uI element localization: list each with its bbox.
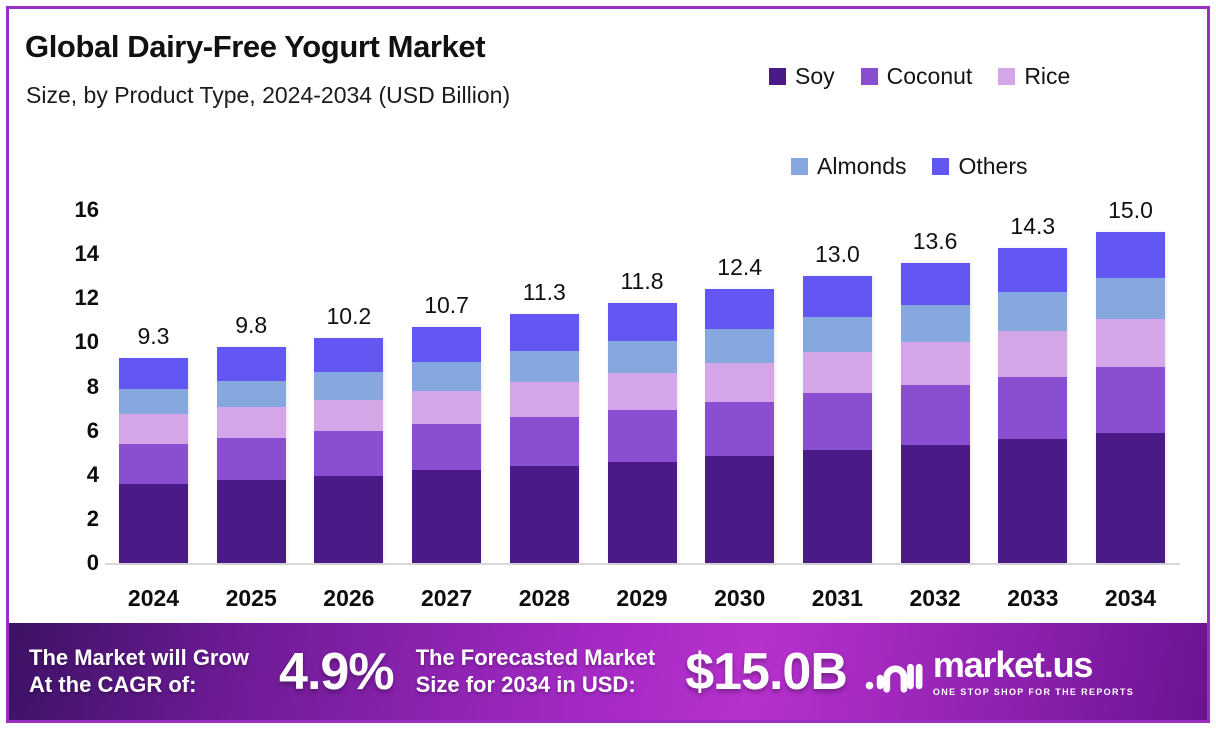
infographic-root: Global Dairy-Free Yogurt Market Size, by… [0,0,1216,729]
bar-value-label-2027: 10.7 [398,292,495,319]
y-axis-tick-12: 12 [75,285,99,311]
bar-segment-soy-2027 [412,470,481,563]
bar-group-2026[interactable]: 10.22026 [300,9,397,620]
forecast-value: $15.0B [685,642,847,702]
bar-segment-rice-2030 [705,363,774,402]
brand-tagline: ONE STOP SHOP FOR THE REPORTS [933,687,1134,697]
bar-segment-soy-2029 [608,462,677,563]
bar-segment-soy-2031 [803,450,872,563]
bar-segment-others-2029 [608,303,677,342]
brand-name: market.us [933,647,1134,683]
y-axis-tick-4: 4 [87,462,99,488]
x-axis-label-2032: 2032 [887,585,984,612]
x-axis-label-2029: 2029 [594,585,691,612]
bar-stack-2027[interactable] [412,327,481,563]
bar-segment-almonds-2032 [901,305,970,343]
bar-value-label-2025: 9.8 [203,312,300,339]
y-axis-tick-14: 14 [75,241,99,267]
bar-segment-others-2031 [803,276,872,317]
bar-stack-2028[interactable] [510,314,579,563]
bar-value-label-2033: 14.3 [984,213,1081,240]
bar-value-label-2028: 11.3 [496,279,593,306]
bar-segment-soy-2033 [998,439,1067,563]
bar-segment-almonds-2031 [803,317,872,352]
bar-stack-2030[interactable] [705,289,774,563]
bar-segment-soy-2026 [314,476,383,563]
bar-groups: 9.320249.8202510.2202610.7202711.3202811… [105,9,1180,620]
bar-group-2024[interactable]: 9.32024 [105,9,202,620]
bar-segment-almonds-2027 [412,362,481,391]
bar-segment-rice-2034 [1096,319,1165,366]
bar-stack-2033[interactable] [998,248,1067,563]
cagr-label-line1: The Market will Grow [29,645,249,672]
bar-stack-2032[interactable] [901,263,970,563]
bar-segment-almonds-2026 [314,372,383,400]
bar-segment-almonds-2028 [510,351,579,382]
bar-value-label-2026: 10.2 [300,303,397,330]
bar-segment-rice-2026 [314,400,383,431]
bar-segment-almonds-2024 [119,389,188,414]
bar-group-2030[interactable]: 12.42030 [691,9,788,620]
bar-segment-others-2032 [901,263,970,305]
bar-segment-others-2026 [314,338,383,372]
bar-group-2027[interactable]: 10.72027 [398,9,495,620]
bar-segment-others-2025 [217,347,286,381]
bar-segment-rice-2029 [608,373,677,409]
bar-group-2028[interactable]: 11.32028 [496,9,593,620]
bar-stack-2031[interactable] [803,276,872,563]
footer-banner: The Market will Grow At the CAGR of: 4.9… [9,623,1207,720]
y-axis-tick-16: 16 [75,197,99,223]
bar-segment-rice-2027 [412,391,481,424]
bar-segment-soy-2028 [510,466,579,563]
bar-value-label-2032: 13.6 [887,228,984,255]
bar-segment-almonds-2030 [705,329,774,363]
y-axis-tick-6: 6 [87,418,99,444]
bar-segment-rice-2028 [510,382,579,417]
bar-value-label-2024: 9.3 [105,323,202,350]
chart-card: Global Dairy-Free Yogurt Market Size, by… [9,9,1207,620]
forecast-label: The Forecasted Market Size for 2034 in U… [416,645,656,699]
bar-segment-soy-2030 [705,456,774,563]
bar-segment-coconut-2024 [119,444,188,484]
bar-segment-coconut-2029 [608,410,677,462]
bar-group-2031[interactable]: 13.02031 [789,9,886,620]
bar-value-label-2034: 15.0 [1082,197,1179,224]
x-axis-label-2027: 2027 [398,585,495,612]
bar-group-2033[interactable]: 14.32033 [984,9,1081,620]
x-axis-label-2024: 2024 [105,585,202,612]
bar-segment-coconut-2031 [803,393,872,450]
y-axis-tick-0: 0 [87,550,99,576]
bar-group-2025[interactable]: 9.82025 [203,9,300,620]
bar-segment-almonds-2034 [1096,278,1165,319]
bar-stack-2026[interactable] [314,338,383,563]
bar-segment-coconut-2028 [510,417,579,466]
y-axis-tick-10: 10 [75,329,99,355]
bar-segment-coconut-2025 [217,438,286,480]
bar-segment-rice-2025 [217,407,286,438]
bar-segment-rice-2024 [119,414,188,444]
bar-value-label-2029: 11.8 [594,268,691,295]
bar-segment-almonds-2025 [217,381,286,407]
bar-segment-coconut-2034 [1096,367,1165,433]
bar-value-label-2030: 12.4 [691,254,788,281]
x-axis-label-2033: 2033 [984,585,1081,612]
brand-logo: market.us ONE STOP SHOP FOR THE REPORTS [865,647,1134,697]
bar-segment-coconut-2032 [901,385,970,445]
bar-segment-rice-2032 [901,342,970,385]
bar-segment-others-2027 [412,327,481,362]
bar-segment-soy-2034 [1096,433,1165,563]
bar-segment-others-2028 [510,314,579,352]
bar-segment-coconut-2033 [998,377,1067,440]
bar-segment-rice-2031 [803,352,872,393]
x-axis-label-2025: 2025 [203,585,300,612]
brand-text: market.us ONE STOP SHOP FOR THE REPORTS [933,647,1134,697]
bar-stack-2034[interactable] [1096,232,1165,563]
bar-group-2029[interactable]: 11.82029 [594,9,691,620]
cagr-label-line2: At the CAGR of: [29,672,249,699]
bar-stack-2024[interactable] [119,358,188,563]
bar-segment-soy-2032 [901,445,970,563]
bar-segment-coconut-2030 [705,402,774,456]
bar-segment-soy-2025 [217,480,286,563]
bar-value-label-2031: 13.0 [789,241,886,268]
bar-segment-coconut-2027 [412,424,481,470]
bar-segment-almonds-2033 [998,292,1067,332]
bar-segment-others-2033 [998,248,1067,292]
bar-stack-2029[interactable] [608,303,677,563]
y-axis-tick-2: 2 [87,506,99,532]
x-axis-label-2030: 2030 [691,585,788,612]
cagr-label: The Market will Grow At the CAGR of: [29,645,249,699]
y-axis: 0246810121416 [47,9,99,620]
forecast-label-line1: The Forecasted Market [416,645,656,672]
bar-segment-almonds-2029 [608,341,677,373]
x-axis-label-2028: 2028 [496,585,593,612]
x-axis-label-2034: 2034 [1082,585,1179,612]
bar-segment-others-2030 [705,289,774,329]
bar-segment-soy-2024 [119,484,188,563]
forecast-label-line2: Size for 2034 in USD: [416,672,656,699]
bar-segment-others-2034 [1096,232,1165,278]
x-axis-label-2026: 2026 [300,585,397,612]
y-axis-tick-8: 8 [87,374,99,400]
bar-group-2034[interactable]: 15.02034 [1082,9,1179,620]
bar-segment-others-2024 [119,358,188,389]
bar-stack-2025[interactable] [217,347,286,563]
x-axis-label-2031: 2031 [789,585,886,612]
market-us-logo-mark-icon [865,649,923,695]
cagr-value: 4.9% [279,642,394,702]
bar-segment-rice-2033 [998,331,1067,376]
plot-area: 0246810121416 9.320249.8202510.2202610.7… [9,9,1207,620]
bar-group-2032[interactable]: 13.62032 [887,9,984,620]
bar-segment-coconut-2026 [314,431,383,476]
